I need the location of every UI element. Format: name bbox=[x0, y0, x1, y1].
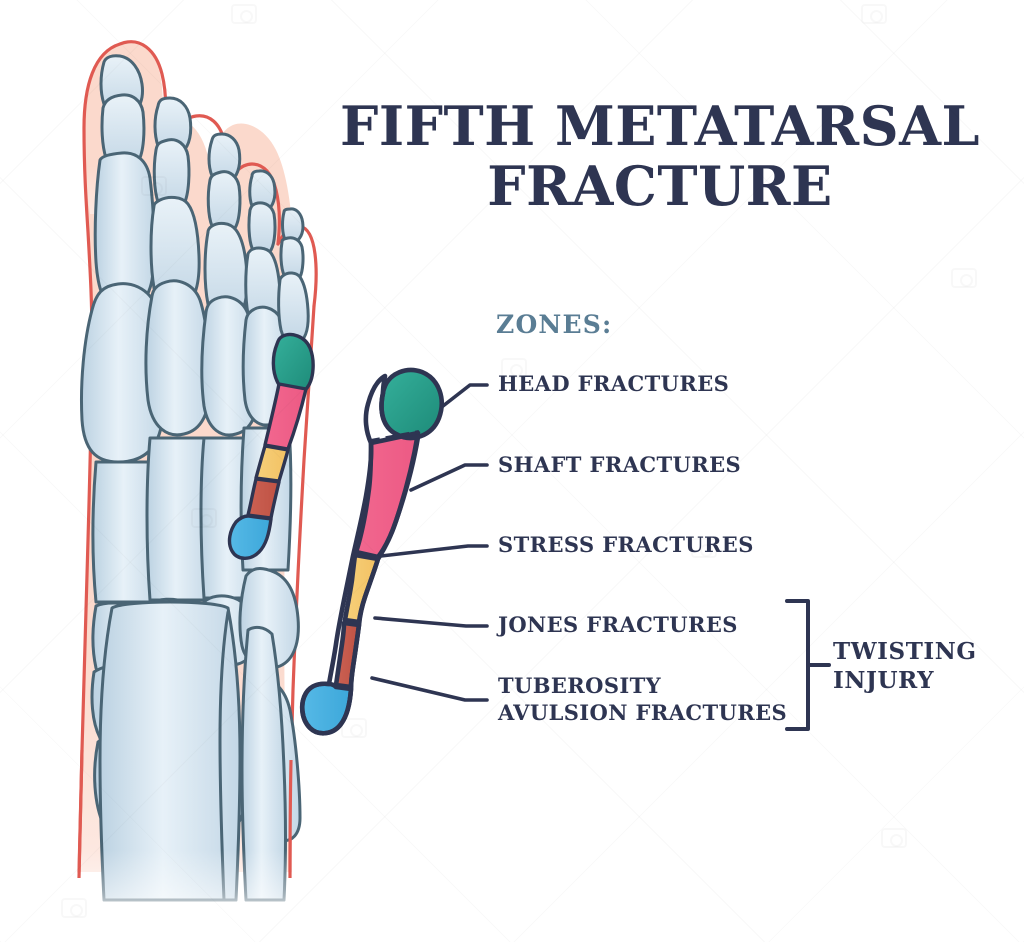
zone-label-jones-fractures: JONES FRACTURES bbox=[498, 612, 738, 639]
twisting-line-1: TWISTING bbox=[833, 637, 977, 666]
title-line-1: FIFTH METATARSAL bbox=[340, 94, 980, 158]
title-line-2: FRACTURE bbox=[340, 156, 980, 216]
twisting-injury-label: TWISTING INJURY bbox=[833, 637, 977, 696]
zone-label-shaft-fractures: SHAFT FRACTURES bbox=[498, 452, 741, 479]
bracket-shape bbox=[787, 601, 808, 729]
zone-label-tuberosity-avulsion-fractures: TUBEROSITY AVULSION FRACTURES bbox=[498, 673, 787, 727]
leader-stress bbox=[381, 546, 487, 556]
tuberosity-label-line-2: AVULSION FRACTURES bbox=[498, 700, 787, 727]
zone-label-stress-fractures: STRESS FRACTURES bbox=[498, 532, 754, 559]
leader-head bbox=[443, 385, 487, 406]
leader-shaft bbox=[411, 465, 487, 490]
leader-jones bbox=[375, 618, 487, 626]
tuberosity-label-line-1: TUBEROSITY bbox=[498, 673, 787, 700]
zone-label-head-fractures: HEAD FRACTURES bbox=[498, 371, 729, 398]
diagram-canvas: FIFTH METATARSAL FRACTURE ZONES: HEAD FR… bbox=[0, 0, 1024, 942]
twisting-injury-bracket bbox=[787, 601, 829, 729]
zones-heading: ZONES: bbox=[496, 310, 612, 339]
twisting-line-2: INJURY bbox=[833, 666, 977, 695]
leader-tuberosity bbox=[372, 678, 487, 700]
page-title: FIFTH METATARSAL FRACTURE bbox=[340, 96, 980, 217]
